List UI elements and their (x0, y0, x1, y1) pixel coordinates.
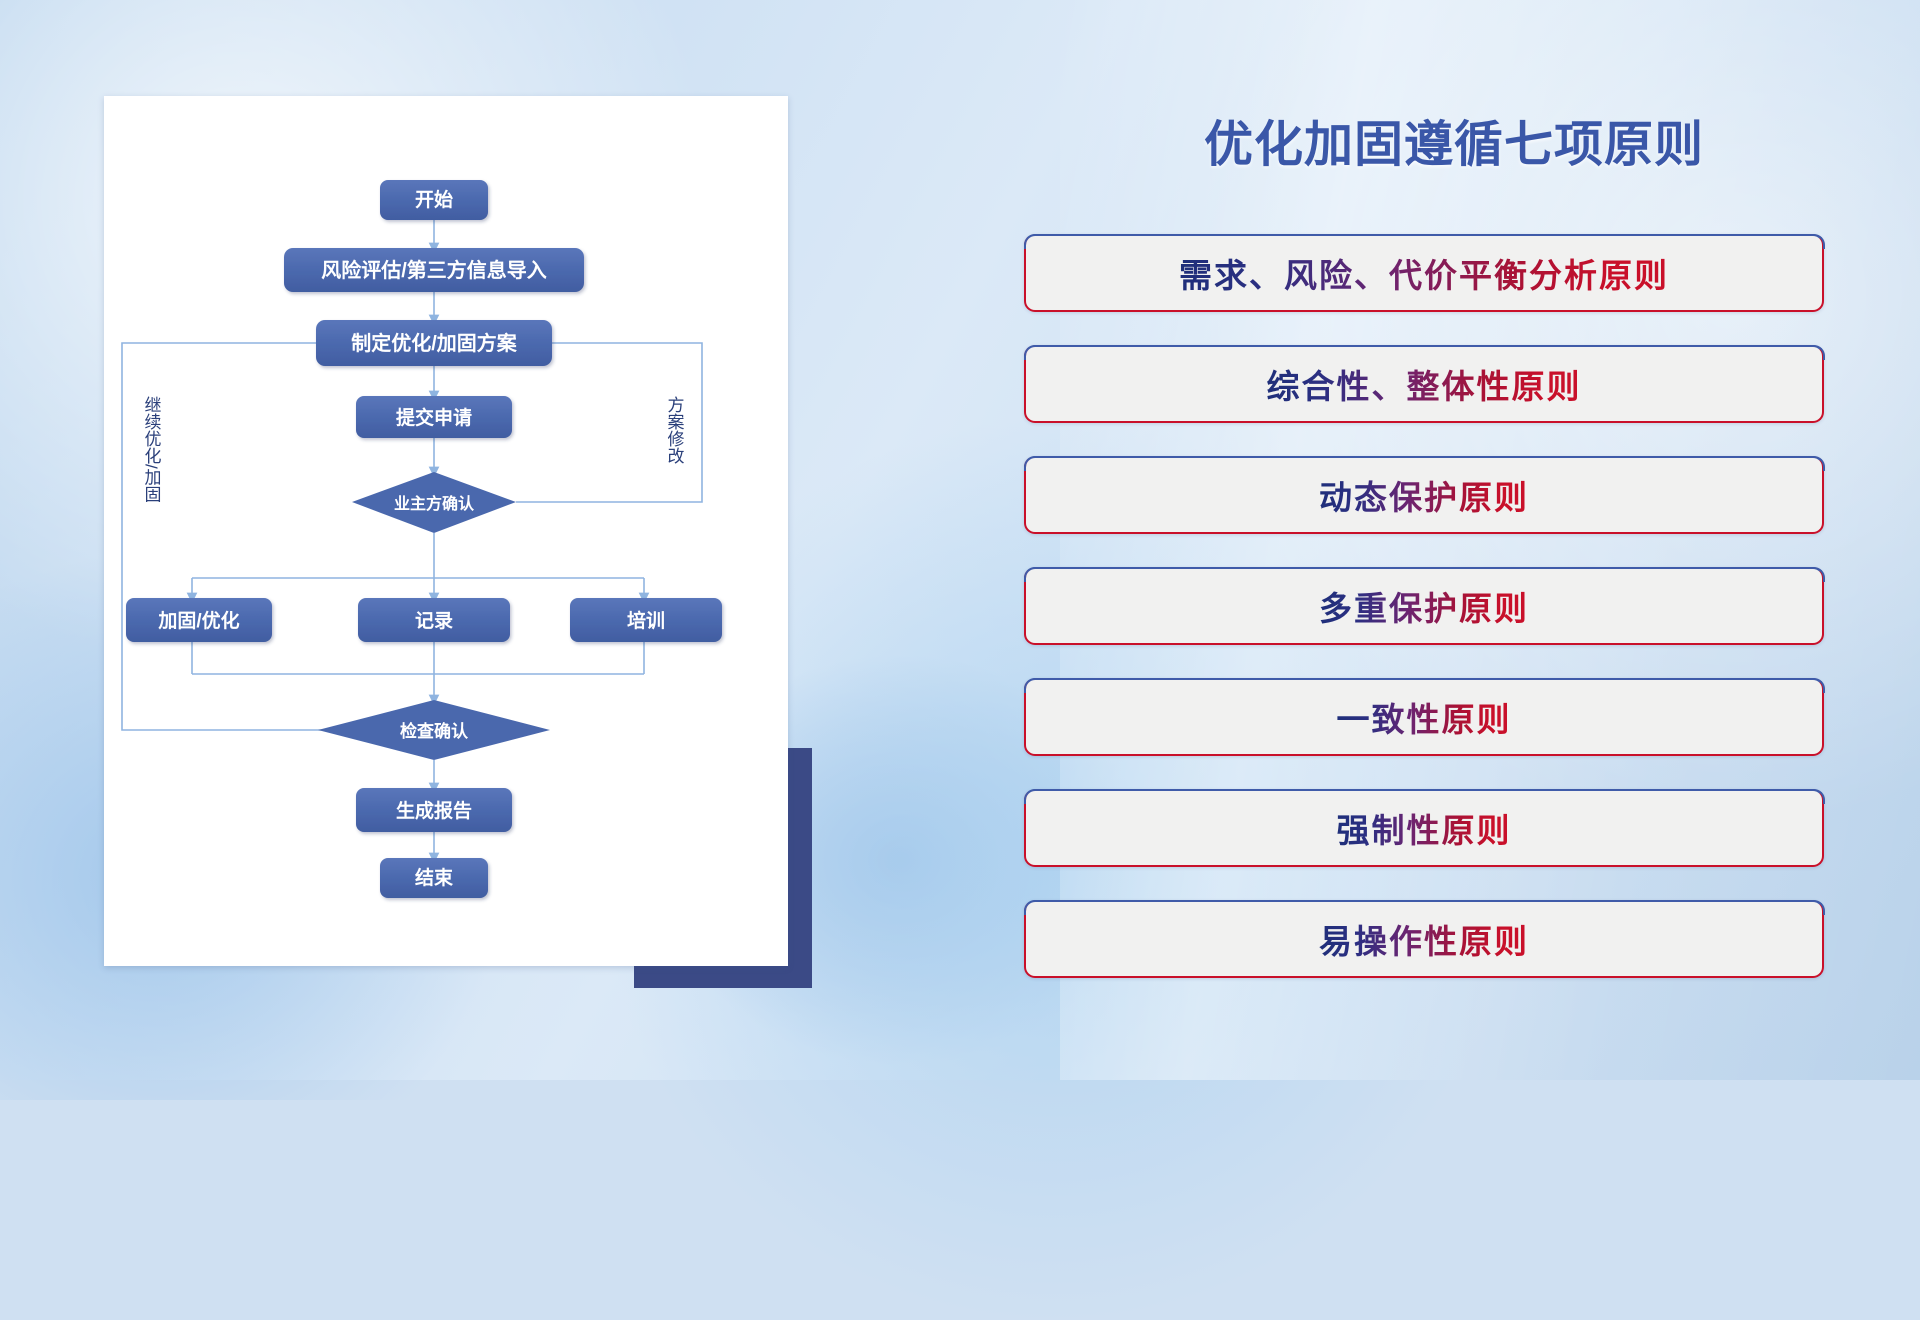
principle-card[interactable]: 需求、风险、代价平衡分析原则 (1024, 234, 1824, 312)
flow-node-report[interactable]: 生成报告 (356, 788, 512, 832)
principle-card[interactable]: 多重保护原则 (1024, 567, 1824, 645)
flow-node-reinforce[interactable]: 加固/优化 (126, 598, 272, 642)
flow-node-start[interactable]: 开始 (380, 180, 488, 220)
principle-card-label: 综合性、整体性原则 (1267, 360, 1582, 408)
flow-edge-label-right-text: 方案修改 (665, 396, 685, 464)
flow-node-check[interactable]: 检查确认 (318, 700, 550, 760)
principle-card-label: 强制性原则 (1337, 804, 1512, 852)
flow-node-risk-label: 风险评估/第三方信息导入 (321, 258, 547, 282)
flow-node-submit[interactable]: 提交申请 (356, 396, 512, 438)
flow-node-report-label: 生成报告 (396, 799, 472, 822)
flow-node-owner-confirm-label: 业主方确认 (394, 494, 475, 513)
principle-card[interactable]: 易操作性原则 (1024, 900, 1824, 978)
flow-edge-label-right: 方案修改 (665, 396, 685, 464)
flow-node-end[interactable]: 结束 (380, 858, 488, 898)
principle-card-label: 一致性原则 (1337, 693, 1512, 741)
principle-card-label: 多重保护原则 (1319, 582, 1529, 630)
flow-edge-label-left: 继续优化/加固 (142, 396, 162, 503)
principle-card[interactable]: 动态保护原则 (1024, 456, 1824, 534)
flow-node-train-label: 培训 (627, 609, 665, 632)
flow-node-check-label: 检查确认 (400, 721, 469, 741)
flowchart: 开始 风险评估/第三方信息导入 制定优化/加固方案 提交申请 业主方确认 加固/… (104, 96, 788, 966)
flow-node-train[interactable]: 培训 (570, 598, 722, 642)
flowchart-paper: 开始 风险评估/第三方信息导入 制定优化/加固方案 提交申请 业主方确认 加固/… (104, 96, 788, 966)
principle-card[interactable]: 综合性、整体性原则 (1024, 345, 1824, 423)
flow-node-start-label: 开始 (415, 188, 453, 211)
principle-card-label: 需求、风险、代价平衡分析原则 (1179, 249, 1669, 297)
flow-node-end-label: 结束 (415, 866, 454, 889)
flow-node-plan-label: 制定优化/加固方案 (351, 331, 518, 355)
flow-node-submit-label: 提交申请 (396, 406, 472, 429)
flow-node-owner-confirm[interactable]: 业主方确认 (352, 472, 516, 533)
principle-card[interactable]: 一致性原则 (1024, 678, 1824, 756)
principle-card-label: 动态保护原则 (1319, 471, 1529, 519)
flow-node-reinforce-label: 加固/优化 (157, 609, 239, 632)
flow-node-risk[interactable]: 风险评估/第三方信息导入 (284, 248, 584, 292)
flow-edge-label-left-text: 继续优化/加固 (142, 396, 162, 503)
principle-card[interactable]: 强制性原则 (1024, 789, 1824, 867)
principles-list: 需求、风险、代价平衡分析原则 综合性、整体性原则 动态保护原则 多重保护原则 一… (1024, 234, 1824, 1011)
flow-node-plan[interactable]: 制定优化/加固方案 (316, 320, 552, 366)
principle-card-label: 易操作性原则 (1319, 915, 1529, 963)
page-title: 优化加固遵循七项原则 (1024, 105, 1884, 176)
flow-node-record-label: 记录 (415, 610, 453, 632)
flow-node-record[interactable]: 记录 (358, 598, 510, 642)
